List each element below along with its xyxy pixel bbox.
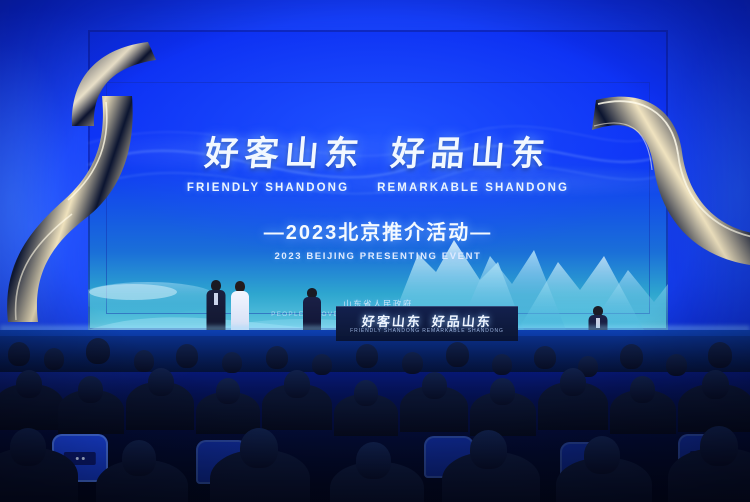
audience-head-front <box>122 440 156 476</box>
audience-head <box>134 350 154 372</box>
audience-head <box>284 370 310 398</box>
chair-label-dot <box>82 457 85 460</box>
audience-head <box>446 342 469 367</box>
audience-head <box>560 368 586 396</box>
event-stage-photograph: 好客山东好品山东 FRIENDLY SHANDONGREMARKABLE SHA… <box>0 0 750 502</box>
audience-head <box>86 338 110 364</box>
audience-head-front <box>240 428 278 468</box>
audience-head <box>16 370 42 398</box>
audience-head <box>356 344 378 368</box>
audience-head <box>620 344 643 369</box>
audience-head <box>222 352 242 373</box>
audience-head <box>312 354 332 375</box>
audience-head <box>492 354 512 375</box>
audience-head-front <box>356 442 391 479</box>
audience-head-front <box>470 430 507 469</box>
audience-area <box>0 336 750 502</box>
audience-head <box>216 378 240 404</box>
audience-head <box>666 354 687 376</box>
audience-head <box>78 376 103 403</box>
audience-head <box>354 380 378 406</box>
audience-head <box>490 378 515 405</box>
audience-head <box>266 346 288 369</box>
chair-label-dot <box>76 457 79 460</box>
host-male-shirt <box>214 293 218 305</box>
audience-head <box>8 342 30 366</box>
audience-head <box>702 370 729 399</box>
audience-head <box>148 368 174 396</box>
audience-head-front <box>584 436 620 474</box>
audience-head-front <box>10 428 46 466</box>
audience-head <box>630 376 655 403</box>
audience-head <box>708 342 732 368</box>
audience-head <box>402 352 423 374</box>
audience-head <box>422 372 447 399</box>
audience-head-front <box>700 426 738 466</box>
podium-banner-english: FRIENDLY SHANDONG REMARKABLE SHANDONG <box>336 328 518 334</box>
audience-head <box>534 346 556 369</box>
led-backdrop-screen: 好客山东好品山东 FRIENDLY SHANDONGREMARKABLE SHA… <box>88 30 668 330</box>
audience-head <box>176 344 198 368</box>
audience-head <box>44 348 64 370</box>
